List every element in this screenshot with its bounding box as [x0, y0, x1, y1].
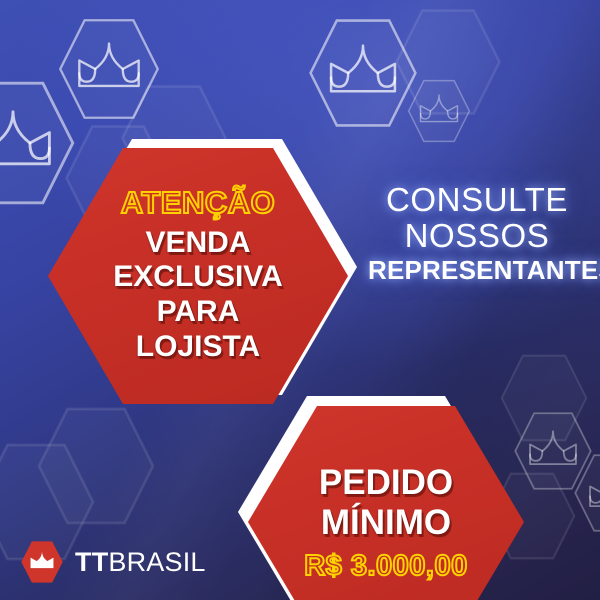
card-atencao: ATENÇÃO VENDA EXCLUSIVA PARA LOJISTA: [48, 148, 348, 404]
watermark-hexagon-crown: [56, 16, 162, 122]
atencao-line-2: EXCLUSIVA: [113, 260, 282, 295]
pedido-price: R$ 3.000,00: [304, 551, 468, 581]
brand-wordmark: TTBRASIL: [75, 547, 206, 578]
pedido-line-1: PEDIDO: [319, 463, 453, 504]
atencao-line-1: VENDA: [145, 226, 250, 261]
headline-line-1: CONSULTE: [368, 182, 586, 218]
card-pedido-minimo: PEDIDO MÍNIMO R$ 3.000,00: [248, 406, 524, 600]
atencao-line-4: LOJISTA: [136, 330, 260, 365]
watermark-hexagon-crown: [512, 410, 594, 492]
crown-hexagon-icon: [20, 540, 64, 584]
watermark-hexagon-ghost: [34, 404, 158, 528]
atencao-line-3: PARA: [157, 295, 240, 330]
watermark-hexagon-crown: [406, 78, 472, 144]
brand-tt: TT: [75, 547, 108, 577]
promo-banner: ATENÇÃO VENDA EXCLUSIVA PARA LOJISTA CON…: [0, 0, 600, 600]
brand-brasil: BRASIL: [108, 547, 205, 577]
headline-block: CONSULTE NOSSOS REPRESENTANTES: [368, 182, 586, 286]
pedido-line-2: MÍNIMO: [321, 503, 451, 544]
headline-line-2: NOSSOS: [368, 218, 586, 254]
brand-logo: TTBRASIL: [20, 540, 206, 584]
headline-line-3: REPRESENTANTES: [368, 255, 586, 286]
watermark-hexagon-crown: [306, 16, 420, 130]
atencao-heading: ATENÇÃO: [121, 187, 275, 220]
watermark-hexagon-ghost: [392, 6, 504, 118]
watermark-hexagon-crown: [572, 452, 600, 534]
